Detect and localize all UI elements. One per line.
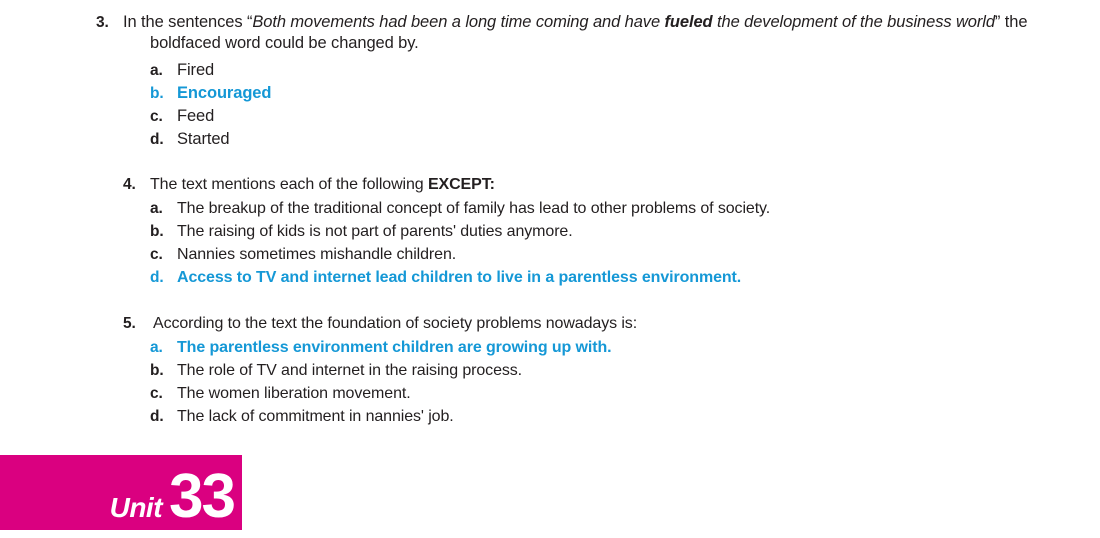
- question-block-5: 5. According to the text the foundation …: [0, 313, 1100, 428]
- option-5-d[interactable]: d. The lack of commitment in nannies' jo…: [0, 405, 1100, 428]
- question-4-number: 4.: [123, 174, 136, 195]
- option-3-d[interactable]: d. Started: [0, 128, 1100, 151]
- option-3-d-label: Started: [177, 130, 230, 148]
- unit-number: 33: [169, 468, 234, 527]
- option-4-b-label: The raising of kids is not part of paren…: [177, 223, 573, 240]
- option-4-a-letter: a.: [150, 197, 163, 220]
- option-5-d-letter: d.: [150, 405, 164, 428]
- question-5-stem-text: According to the text the foundation of …: [153, 315, 637, 332]
- option-3-c[interactable]: c. Feed: [0, 105, 1100, 128]
- question-5-stem: 5. According to the text the foundation …: [0, 313, 1100, 334]
- option-3-a-letter: a.: [150, 59, 163, 82]
- option-4-b[interactable]: b. The raising of kids is not part of pa…: [0, 220, 1100, 243]
- option-4-c-label: Nannies sometimes mishandle children.: [177, 246, 456, 263]
- option-4-d[interactable]: d. Access to TV and internet lead childr…: [0, 266, 1100, 289]
- unit-banner: Unit 33: [0, 455, 242, 530]
- option-3-c-letter: c.: [150, 105, 163, 128]
- question-3-stem: 3. In the sentences “Both movements had …: [0, 12, 1100, 54]
- question-block-3: 3. In the sentences “Both movements had …: [0, 12, 1100, 151]
- option-3-a-label: Fired: [177, 61, 214, 79]
- question-4-stem: 4. The text mentions each of the followi…: [0, 174, 1100, 195]
- question-3-stem-text: In the sentences “Both movements had bee…: [123, 13, 1027, 52]
- option-5-c[interactable]: c. The women liberation movement.: [0, 382, 1100, 405]
- option-4-d-letter: d.: [150, 266, 164, 289]
- question-block-4: 4. The text mentions each of the followi…: [0, 174, 1100, 289]
- option-5-a[interactable]: a. The parentless environment children a…: [0, 336, 1100, 359]
- option-3-c-label: Feed: [177, 107, 214, 125]
- option-3-d-letter: d.: [150, 128, 164, 151]
- option-5-d-label: The lack of commitment in nannies' job.: [177, 408, 454, 425]
- option-5-b-letter: b.: [150, 359, 164, 382]
- question-4-options: a. The breakup of the traditional concep…: [0, 197, 1100, 289]
- question-4-stem-text: The text mentions each of the following …: [150, 176, 495, 193]
- option-4-a[interactable]: a. The breakup of the traditional concep…: [0, 197, 1100, 220]
- question-3-options: a. Fired b. Encouraged c. Feed d. Starte…: [0, 59, 1100, 151]
- unit-banner-content: Unit 33: [110, 468, 234, 530]
- option-4-d-label: Access to TV and internet lead children …: [177, 269, 741, 286]
- option-5-c-label: The women liberation movement.: [177, 385, 411, 402]
- option-5-b-label: The role of TV and internet in the raisi…: [177, 362, 522, 379]
- unit-label: Unit: [110, 492, 169, 530]
- option-4-c-letter: c.: [150, 243, 163, 266]
- option-3-a[interactable]: a. Fired: [0, 59, 1100, 82]
- option-5-b[interactable]: b. The role of TV and internet in the ra…: [0, 359, 1100, 382]
- option-5-c-letter: c.: [150, 382, 163, 405]
- question-5-options: a. The parentless environment children a…: [0, 336, 1100, 428]
- worksheet-page: 3. In the sentences “Both movements had …: [0, 0, 1100, 538]
- option-3-b[interactable]: b. Encouraged: [0, 82, 1100, 105]
- option-4-a-label: The breakup of the traditional concept o…: [177, 200, 770, 217]
- option-4-b-letter: b.: [150, 220, 164, 243]
- option-4-c[interactable]: c. Nannies sometimes mishandle children.: [0, 243, 1100, 266]
- option-5-a-letter: a.: [150, 336, 163, 359]
- option-5-a-label: The parentless environment children are …: [177, 339, 611, 356]
- question-5-number: 5.: [123, 313, 136, 334]
- option-3-b-label: Encouraged: [177, 84, 271, 102]
- option-3-b-letter: b.: [150, 82, 164, 105]
